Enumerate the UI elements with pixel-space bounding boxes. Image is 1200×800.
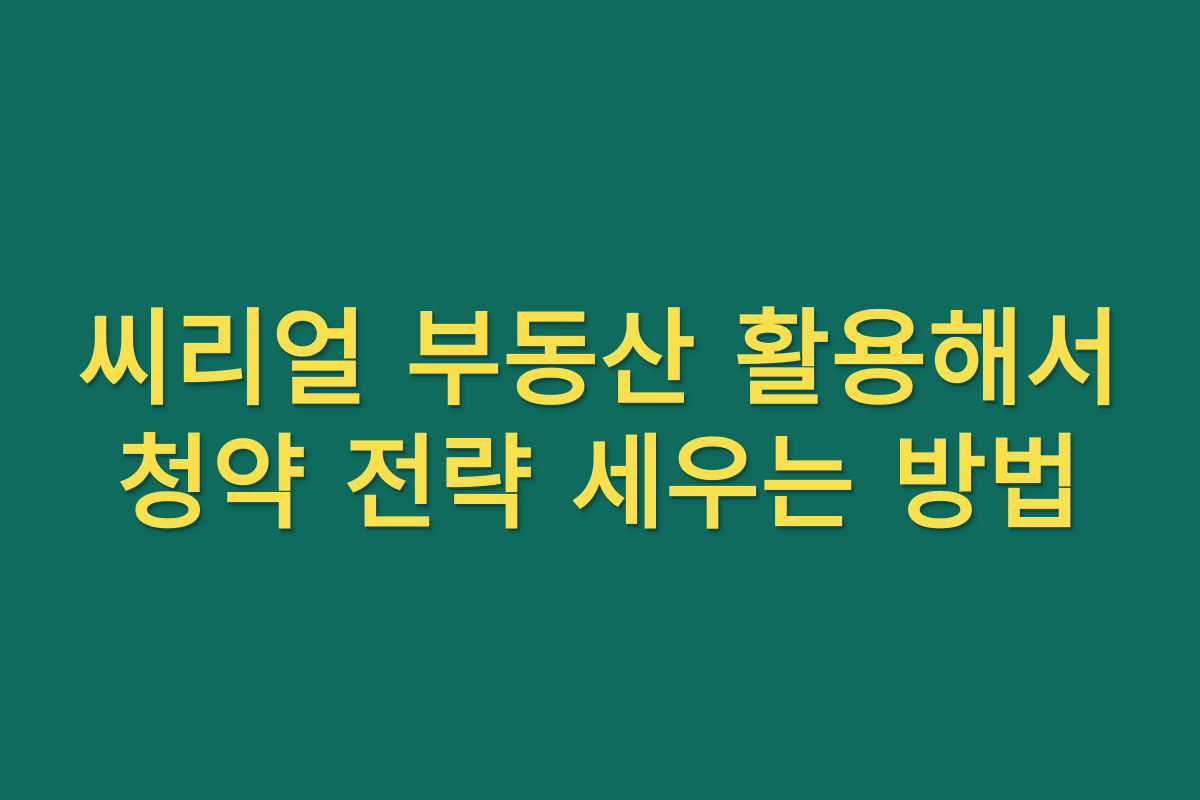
thumbnail-canvas: 씨리얼 부동산 활용해서 청약 전략 세우는 방법 (0, 0, 1200, 800)
headline-block: 씨리얼 부동산 활용해서 청약 전략 세우는 방법 (0, 297, 1200, 547)
headline-line-1: 씨리얼 부동산 활용해서 (0, 297, 1200, 422)
headline-line-2: 청약 전략 세우는 방법 (0, 422, 1200, 547)
